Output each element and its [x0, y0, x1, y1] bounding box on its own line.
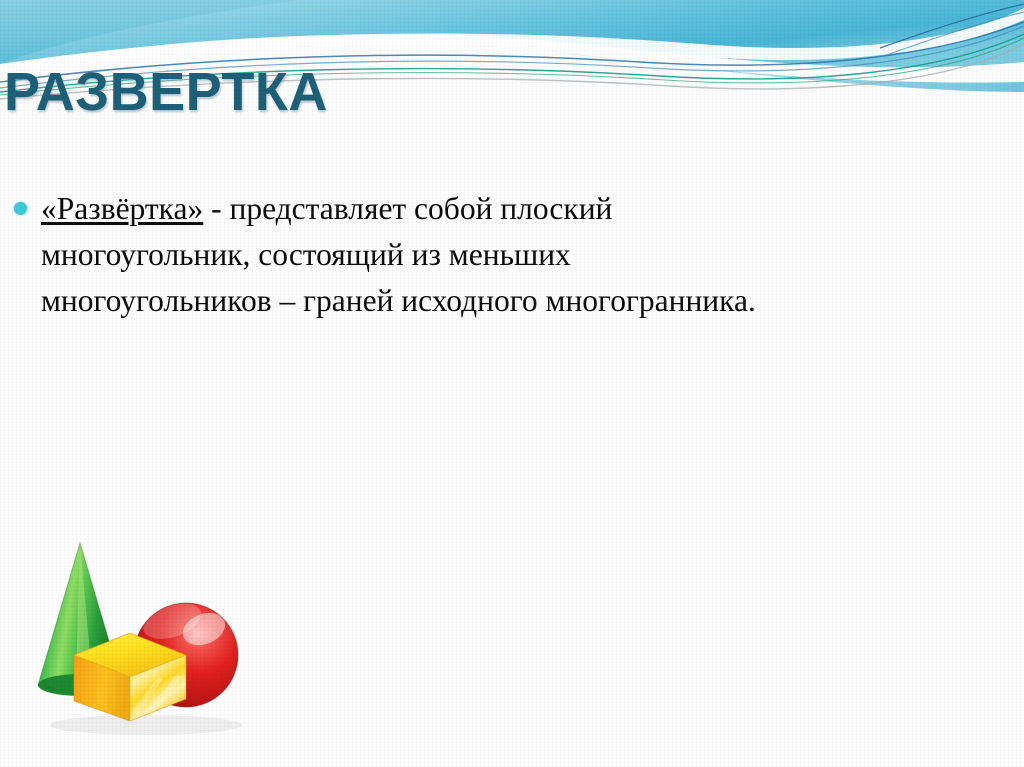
bullet-text-line3: многоугольников – граней исходного — [41, 283, 538, 318]
bullet-item-text: «Развёртка» - представляет собой плоский… — [41, 186, 774, 324]
shapes-shadow — [50, 715, 242, 735]
solids-illustration — [26, 525, 266, 740]
slide-canvas: РАЗВЕРТКА «Развёртка» - представляет соб… — [0, 0, 1024, 767]
bullet-list-item: «Развёртка» - представляет собой плоский… — [14, 186, 774, 324]
solids-svg — [26, 525, 266, 740]
bullet-text-rest: - представляет собой плоский — [203, 191, 612, 226]
body-content: «Развёртка» - представляет собой плоский… — [14, 186, 774, 324]
slide-title: РАЗВЕРТКА — [4, 62, 328, 122]
bullet-term-underlined: «Развёртка» — [41, 191, 203, 226]
bullet-text-line4: многогранника. — [546, 283, 756, 318]
bullet-dot-icon — [14, 202, 27, 215]
bullet-text-line2: многоугольник, состоящий из меньших — [41, 237, 571, 272]
